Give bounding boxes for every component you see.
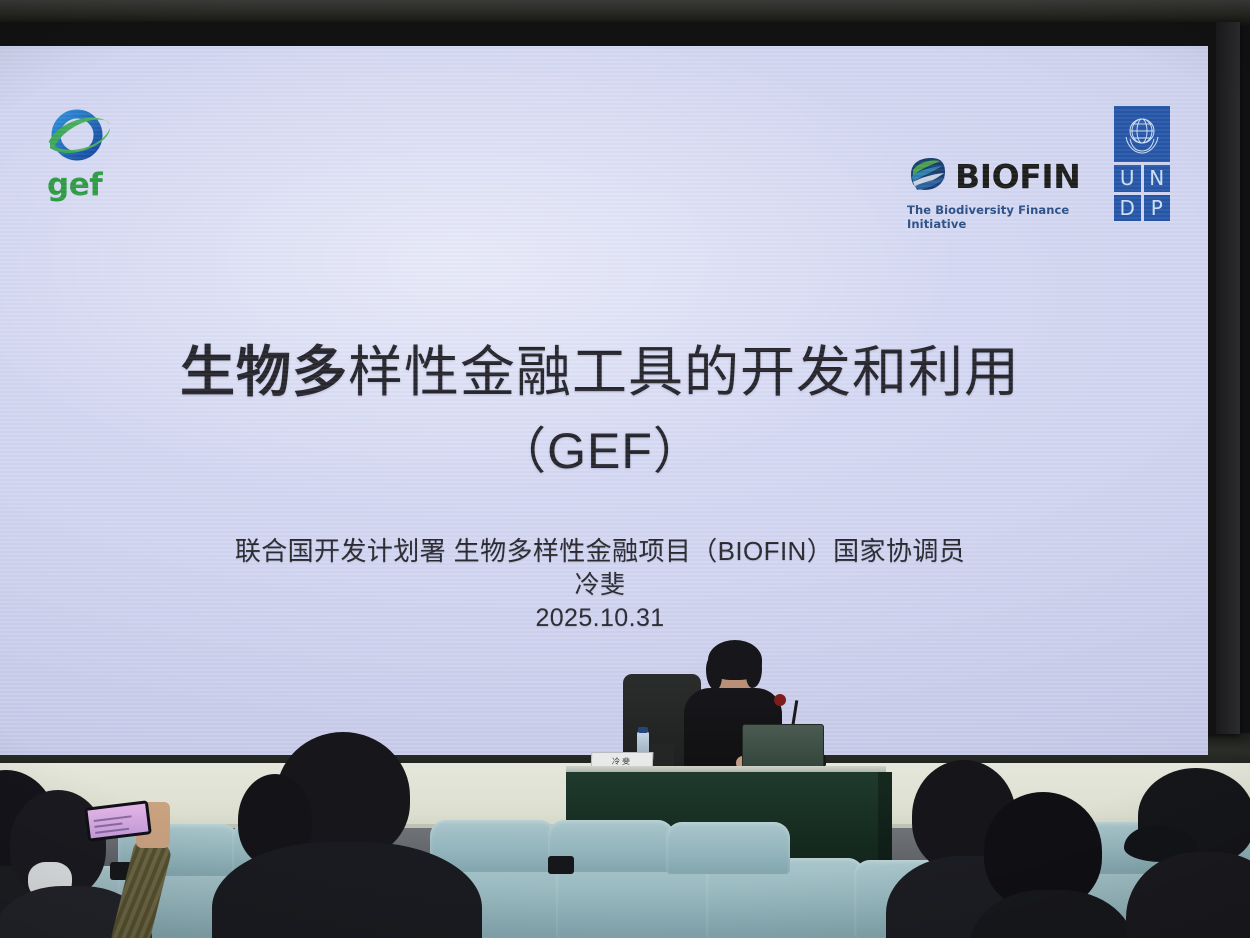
- slide-subtitle: 联合国开发计划署 生物多样性金融项目（BIOFIN）国家协调员 冷斐 2025.…: [0, 534, 1208, 636]
- laptop: [742, 724, 824, 770]
- screen-bezel-right: [1216, 22, 1240, 734]
- microphone-head: [774, 694, 786, 706]
- undp-letter-p: P: [1144, 195, 1171, 222]
- phone-screen-content: [94, 822, 122, 827]
- biofin-mark-icon: [907, 156, 947, 197]
- slide-title-line1: 生物多样性金融工具的开发和利用: [0, 341, 1208, 404]
- undp-letter-d: D: [1114, 195, 1141, 222]
- phone-screen-content: [95, 828, 129, 834]
- undp-letter-grid: U N D P: [1114, 165, 1170, 221]
- water-bottle-cap: [638, 727, 648, 733]
- phone-screen-content: [94, 815, 132, 822]
- slide-title-line2: （GEF）: [0, 411, 1208, 483]
- presenter-hair-left: [706, 656, 722, 690]
- slide-subtitle-name: 冷斐: [0, 569, 1208, 603]
- undp-logo: U N D P: [1114, 106, 1170, 221]
- slide-title-regular-part: 样性金融工具的开发和利用: [348, 341, 1020, 403]
- biofin-wordmark: BIOFIN: [955, 160, 1081, 193]
- seat-divider: [548, 856, 574, 874]
- phone-screen: [88, 804, 149, 839]
- lecture-hall-photo: gef BIOFIN The Biod: [0, 0, 1250, 938]
- undp-letter-n: N: [1144, 165, 1171, 192]
- presenter-hair-right: [746, 656, 762, 688]
- slide-title-bold-part: 生物多: [180, 341, 348, 403]
- projection-screen: gef BIOFIN The Biod: [0, 46, 1208, 755]
- projection-screen-frame: gef BIOFIN The Biod: [0, 22, 1240, 734]
- undp-letter-u: U: [1114, 165, 1141, 192]
- slide-subtitle-affiliation: 联合国开发计划署 生物多样性金融项目（BIOFIN）国家协调员: [0, 534, 1208, 569]
- gef-logo: gef: [44, 104, 120, 200]
- biofin-tagline: The Biodiversity Finance Initiative: [907, 203, 1099, 231]
- biofin-logo: BIOFIN The Biodiversity Finance Initiati…: [907, 156, 1099, 231]
- seat: [666, 822, 790, 874]
- gef-wordmark: gef: [47, 170, 120, 201]
- slide-subtitle-date: 2025.10.31: [0, 602, 1208, 636]
- desk-side-panel: [878, 772, 892, 868]
- gef-mark-icon: [44, 104, 114, 166]
- un-emblem-icon: [1114, 106, 1170, 162]
